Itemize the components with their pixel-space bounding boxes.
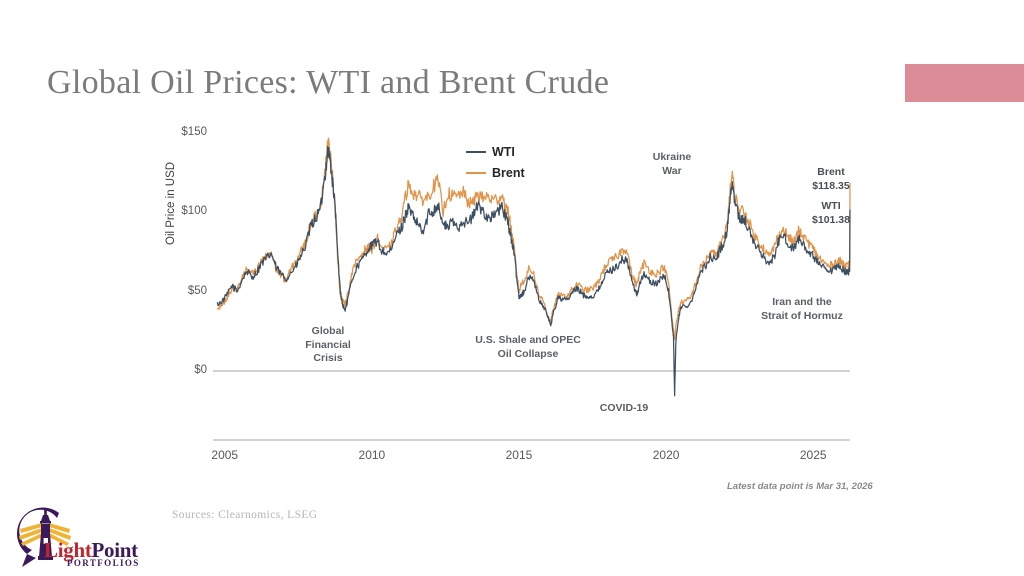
annotation-line: War xyxy=(653,165,692,179)
y-axis-title: Oil Price in USD xyxy=(165,162,177,245)
annotation-line: Iran and the xyxy=(761,296,843,310)
annotation-ukraine-war: UkraineWar xyxy=(653,151,692,178)
x-axis-tick-label: 2005 xyxy=(195,448,255,462)
legend-swatch-wti xyxy=(466,151,486,154)
legend-swatch-brent xyxy=(466,172,486,175)
end-label-line: $118.35 xyxy=(812,179,849,193)
legend-label-brent: Brent xyxy=(492,166,525,180)
lightpoint-portfolios-logo: LightPoint PORTFOLIOS xyxy=(10,505,140,571)
end-label-line: $101.38 xyxy=(812,213,850,227)
annotation-line: COVID-19 xyxy=(600,402,648,416)
annotation-line: Oil Collapse xyxy=(475,348,581,362)
end-label-line: WTI xyxy=(812,199,850,213)
chart-legend: WTI Brent xyxy=(466,143,525,185)
y-axis-tick-label: $50 xyxy=(161,285,207,297)
end-label-line: Brent xyxy=(812,165,849,179)
y-axis-tick-label: $150 xyxy=(161,126,207,138)
x-axis-tick-label: 2015 xyxy=(489,448,549,462)
annotation-global-financial-crisis: GlobalFinancialCrisis xyxy=(305,325,351,366)
x-axis-tick-label: 2025 xyxy=(783,448,843,462)
y-axis-tick-label: $0 xyxy=(161,364,207,376)
legend-item-brent: Brent xyxy=(466,164,525,182)
sources-note: Sources: Clearnomics, LSEG xyxy=(172,509,318,521)
x-axis-tick-label: 2010 xyxy=(342,448,402,462)
annotation-line: Ukraine xyxy=(653,151,692,165)
logo-subtitle: PORTFOLIOS xyxy=(67,558,140,568)
annotation-covid-19: COVID-19 xyxy=(600,402,648,416)
annotation-us-shale-opec-oil-collapse: U.S. Shale and OPECOil Collapse xyxy=(475,334,581,361)
annotation-line: Global xyxy=(305,325,351,339)
annotation-line: Financial xyxy=(305,339,351,353)
annotation-iran-strait-of-hormuz: Iran and theStrait of Hormuz xyxy=(761,296,843,323)
annotation-line: U.S. Shale and OPEC xyxy=(475,334,581,348)
legend-item-wti: WTI xyxy=(466,143,525,161)
x-axis-tick-label: 2020 xyxy=(636,448,696,462)
annotation-line: Crisis xyxy=(305,352,351,366)
brent-end-label: Brent$118.35 xyxy=(812,165,849,193)
wti-end-label: WTI$101.38 xyxy=(812,199,850,227)
legend-label-wti: WTI xyxy=(492,145,515,159)
annotation-line: Strait of Hormuz xyxy=(761,310,843,324)
y-axis-tick-label: $100 xyxy=(161,205,207,217)
latest-data-point-note: Latest data point is Mar 31, 2026 xyxy=(727,481,873,492)
